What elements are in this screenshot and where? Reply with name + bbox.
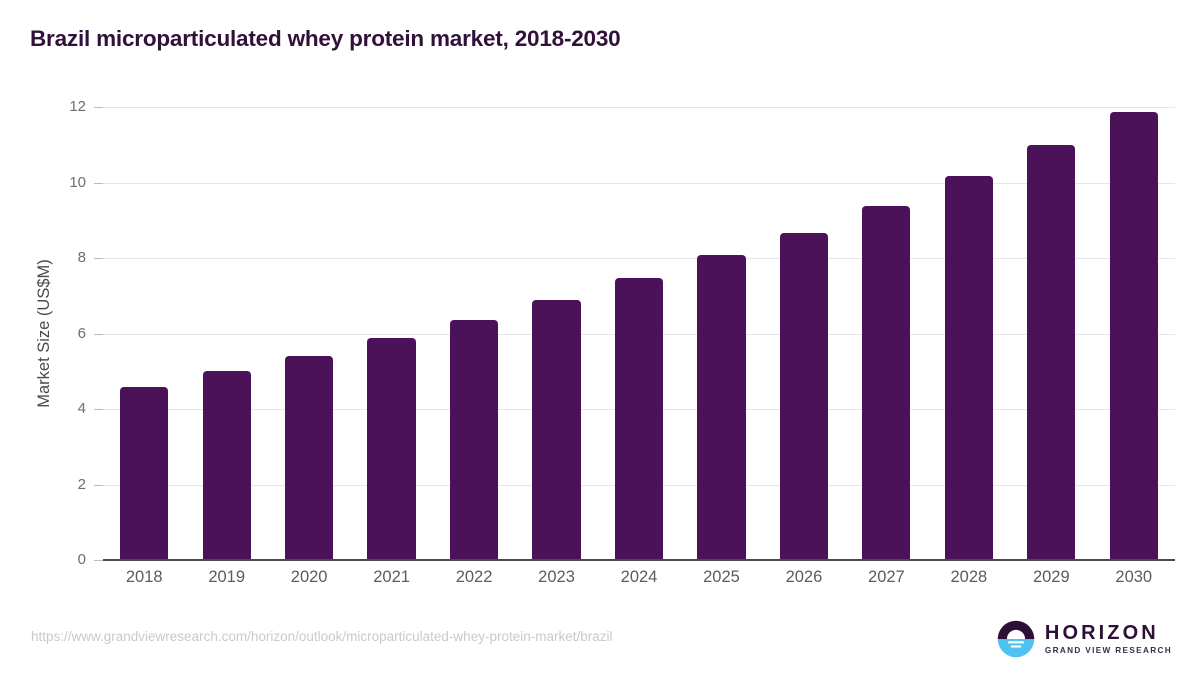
bar-2025[interactable] bbox=[697, 255, 745, 560]
page-title: Brazil microparticulated whey protein ma… bbox=[30, 26, 621, 52]
x-tick-label-2021: 2021 bbox=[373, 568, 410, 587]
y-tick-mark bbox=[94, 258, 103, 259]
y-tick-mark bbox=[94, 485, 103, 486]
y-tick-label: 2 bbox=[46, 476, 86, 493]
x-tick-label-2028: 2028 bbox=[950, 568, 987, 587]
bar-2030[interactable] bbox=[1110, 112, 1158, 560]
y-tick-label: 0 bbox=[46, 551, 86, 568]
y-tick-label: 8 bbox=[46, 249, 86, 266]
source-url[interactable]: https://www.grandviewresearch.com/horizo… bbox=[31, 629, 613, 644]
bar-2019[interactable] bbox=[203, 371, 251, 560]
logo-wordmark: HORIZON bbox=[1045, 623, 1172, 643]
x-tick-label-2026: 2026 bbox=[786, 568, 823, 587]
logo-text: HORIZON GRAND VIEW RESEARCH bbox=[1045, 623, 1172, 655]
x-tick-label-2030: 2030 bbox=[1115, 568, 1152, 587]
y-tick-mark bbox=[94, 183, 103, 184]
y-tick-mark bbox=[94, 409, 103, 410]
x-axis-line bbox=[103, 559, 1175, 561]
logo-tagline: GRAND VIEW RESEARCH bbox=[1045, 647, 1172, 655]
y-tick-mark bbox=[94, 334, 103, 335]
brand-logo[interactable]: HORIZON GRAND VIEW RESEARCH bbox=[997, 618, 1172, 660]
horizon-sun-circle-icon bbox=[997, 620, 1035, 658]
x-tick-label-2029: 2029 bbox=[1033, 568, 1070, 587]
y-tick-label: 6 bbox=[46, 325, 86, 342]
y-tick-label: 4 bbox=[46, 400, 86, 417]
bar-2028[interactable] bbox=[945, 176, 993, 560]
y-tick-mark bbox=[94, 560, 103, 561]
bar-2021[interactable] bbox=[367, 338, 415, 560]
x-tick-label-2019: 2019 bbox=[208, 568, 245, 587]
x-tick-label-2027: 2027 bbox=[868, 568, 905, 587]
bar-2022[interactable] bbox=[450, 320, 498, 560]
chart-page: Brazil microparticulated whey protein ma… bbox=[0, 0, 1200, 675]
bar-2029[interactable] bbox=[1027, 145, 1075, 560]
bar-2026[interactable] bbox=[780, 233, 828, 560]
x-tick-label-2025: 2025 bbox=[703, 568, 740, 587]
bar-2027[interactable] bbox=[862, 206, 910, 560]
bar-2023[interactable] bbox=[532, 300, 580, 560]
bar-2020[interactable] bbox=[285, 356, 333, 560]
x-tick-label-2023: 2023 bbox=[538, 568, 575, 587]
bar-2024[interactable] bbox=[615, 278, 663, 560]
y-tick-label: 12 bbox=[46, 98, 86, 115]
x-tick-label-2022: 2022 bbox=[456, 568, 493, 587]
x-axis-labels: 2018201920202021202220232024202520262027… bbox=[103, 568, 1175, 594]
x-tick-label-2020: 2020 bbox=[291, 568, 328, 587]
x-tick-label-2024: 2024 bbox=[621, 568, 658, 587]
y-tick-mark bbox=[94, 107, 103, 108]
y-tick-label: 10 bbox=[46, 174, 86, 191]
x-tick-label-2018: 2018 bbox=[126, 568, 163, 587]
bar-2018[interactable] bbox=[120, 387, 168, 560]
bars-layer bbox=[103, 107, 1175, 560]
